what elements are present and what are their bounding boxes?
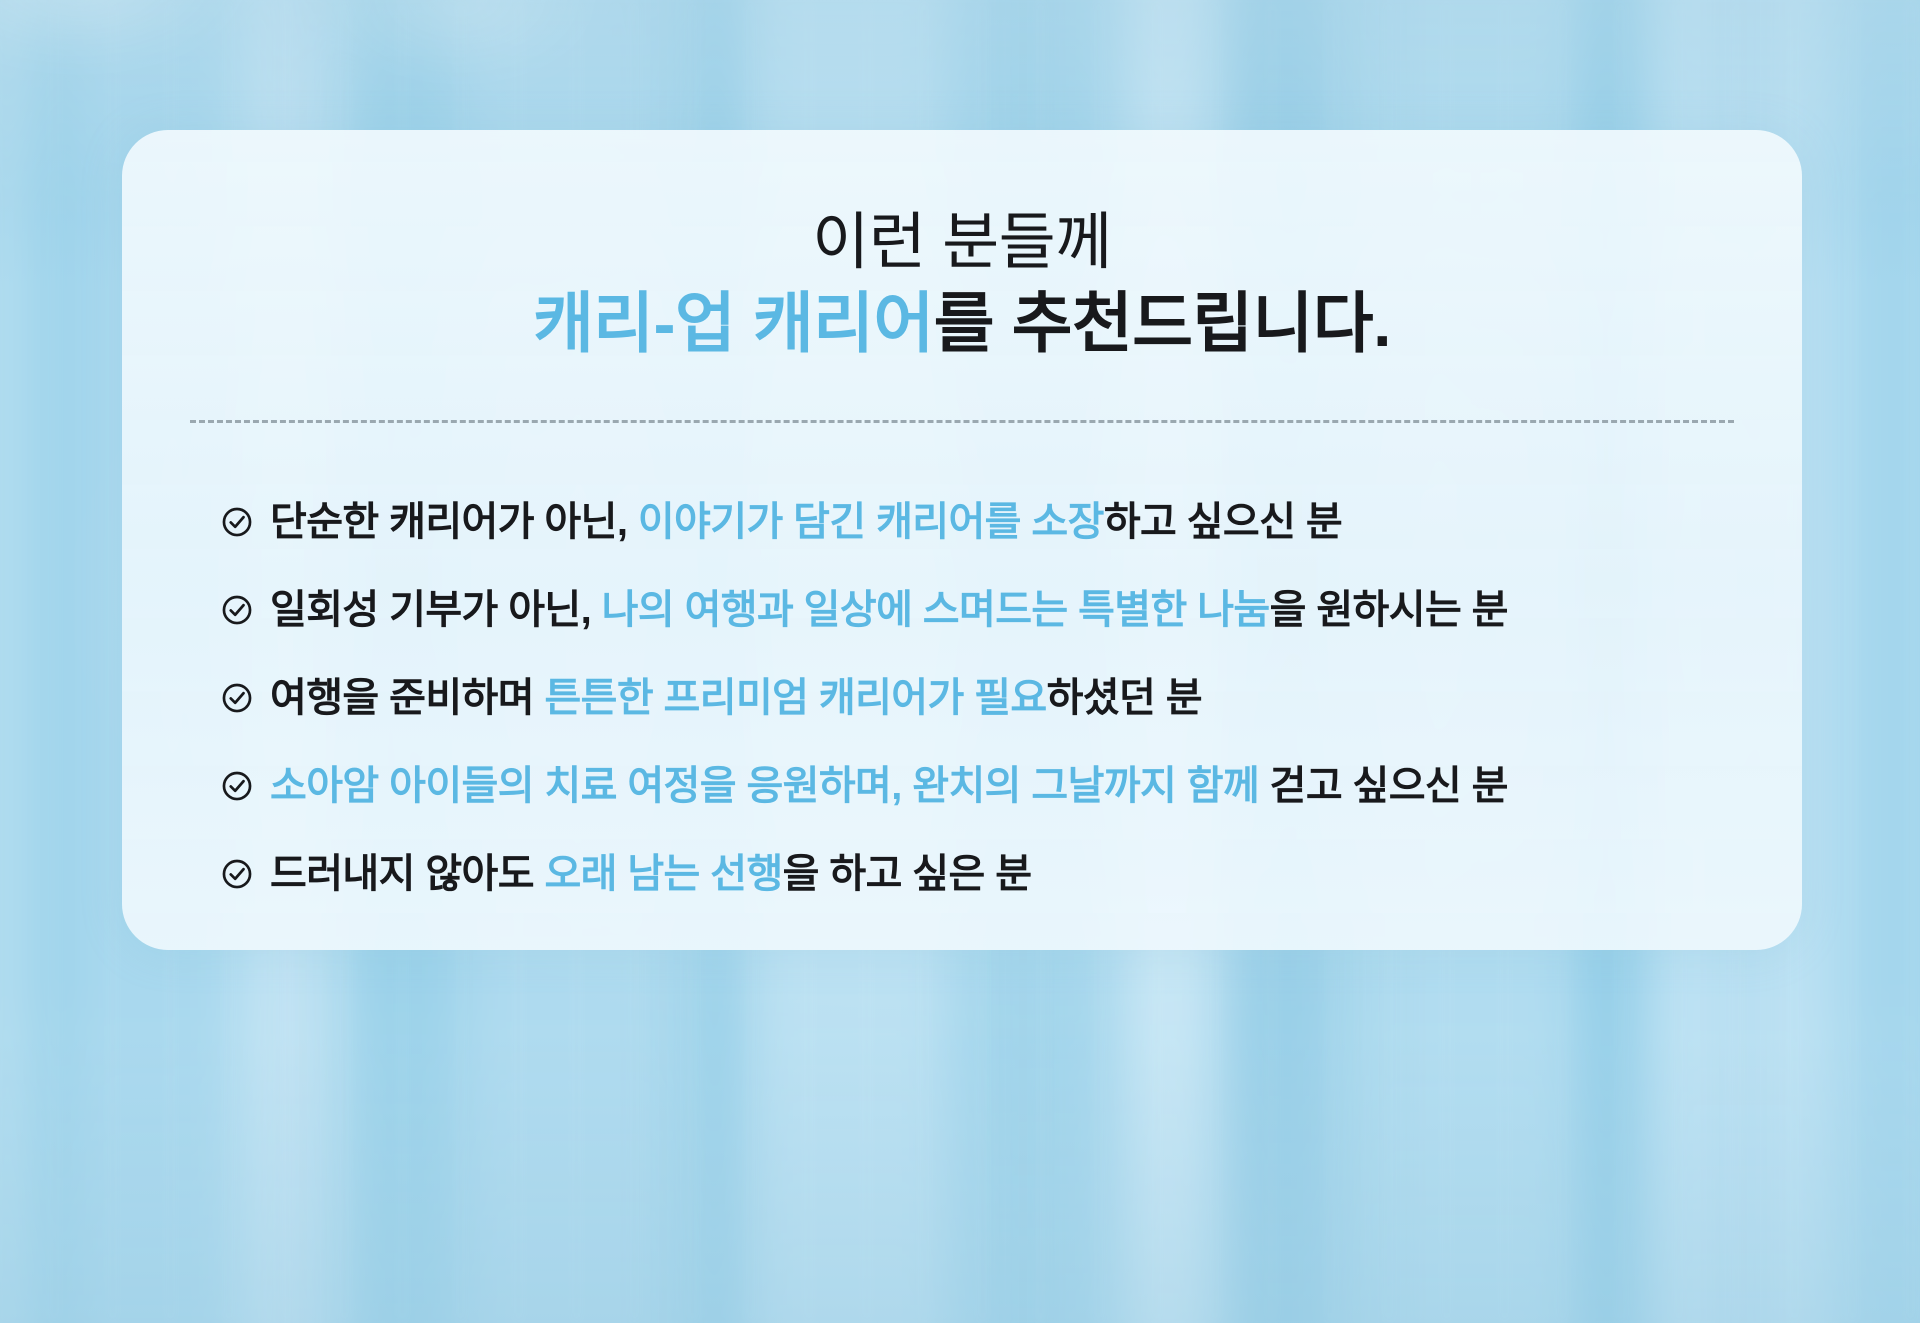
title-line-2-rest: 를 추천드립니다. <box>934 286 1391 360</box>
check-circle-icon <box>220 505 254 539</box>
highlighted-text: 튼튼한 프리미엄 캐리어가 필요 <box>544 676 1046 720</box>
plain-text: 드러내지 않아도 <box>270 852 544 896</box>
highlighted-text: 나의 여행과 일상에 스며드는 특별한 나눔 <box>602 588 1270 632</box>
list-item: 여행을 준비하며 튼튼한 프리미엄 캐리어가 필요하셨던 분 <box>220 654 1802 742</box>
plain-text: 을 원하시는 분 <box>1270 588 1508 632</box>
check-circle-icon <box>220 769 254 803</box>
plain-text: 여행을 준비하며 <box>270 676 544 720</box>
page-title: 이런 분들께 캐리-업 캐리어를 추천드립니다. <box>122 130 1802 364</box>
plain-text: 하고 싶으신 분 <box>1104 500 1342 544</box>
list-item-label: 소아암 아이들의 치료 여정을 응원하며, 완치의 그날까지 함께 걷고 싶으신… <box>270 761 1508 811</box>
content-card: 이런 분들께 캐리-업 캐리어를 추천드립니다. 단순한 캐리어가 아닌, 이야… <box>122 130 1802 950</box>
target-audience-list: 단순한 캐리어가 아닌, 이야기가 담긴 캐리어를 소장하고 싶으신 분일회성 … <box>122 478 1802 918</box>
title-brand-name: 캐리-업 캐리어 <box>533 286 934 360</box>
list-item-label: 일회성 기부가 아닌, 나의 여행과 일상에 스며드는 특별한 나눔을 원하시는… <box>270 585 1508 635</box>
highlighted-text: 이야기가 담긴 캐리어를 소장 <box>638 500 1104 544</box>
highlighted-text: 오래 남는 선행 <box>544 852 782 896</box>
check-circle-icon <box>220 593 254 627</box>
list-item: 소아암 아이들의 치료 여정을 응원하며, 완치의 그날까지 함께 걷고 싶으신… <box>220 742 1802 830</box>
title-line-2: 캐리-업 캐리어를 추천드립니다. <box>122 283 1802 364</box>
check-circle-icon <box>220 857 254 891</box>
highlighted-text: 소아암 아이들의 치료 여정을 응원하며, 완치의 그날까지 함께 <box>270 764 1259 808</box>
list-item: 일회성 기부가 아닌, 나의 여행과 일상에 스며드는 특별한 나눔을 원하시는… <box>220 566 1802 654</box>
promo-banner: 이런 분들께 캐리-업 캐리어를 추천드립니다. 단순한 캐리어가 아닌, 이야… <box>0 0 1920 1323</box>
plain-text: 단순한 캐리어가 아닌, <box>270 500 638 544</box>
list-item-label: 단순한 캐리어가 아닌, 이야기가 담긴 캐리어를 소장하고 싶으신 분 <box>270 497 1342 547</box>
dashed-divider <box>190 420 1734 423</box>
plain-text: 걷고 싶으신 분 <box>1259 764 1508 808</box>
check-circle-icon <box>220 681 254 715</box>
list-item-label: 드러내지 않아도 오래 남는 선행을 하고 싶은 분 <box>270 849 1031 899</box>
plain-text: 일회성 기부가 아닌, <box>270 588 602 632</box>
list-item-label: 여행을 준비하며 튼튼한 프리미엄 캐리어가 필요하셨던 분 <box>270 673 1202 723</box>
plain-text: 하셨던 분 <box>1047 676 1202 720</box>
list-item: 드러내지 않아도 오래 남는 선행을 하고 싶은 분 <box>220 830 1802 918</box>
list-item: 단순한 캐리어가 아닌, 이야기가 담긴 캐리어를 소장하고 싶으신 분 <box>220 478 1802 566</box>
title-line-1: 이런 분들께 <box>122 206 1802 279</box>
plain-text: 을 하고 싶은 분 <box>783 852 1032 896</box>
